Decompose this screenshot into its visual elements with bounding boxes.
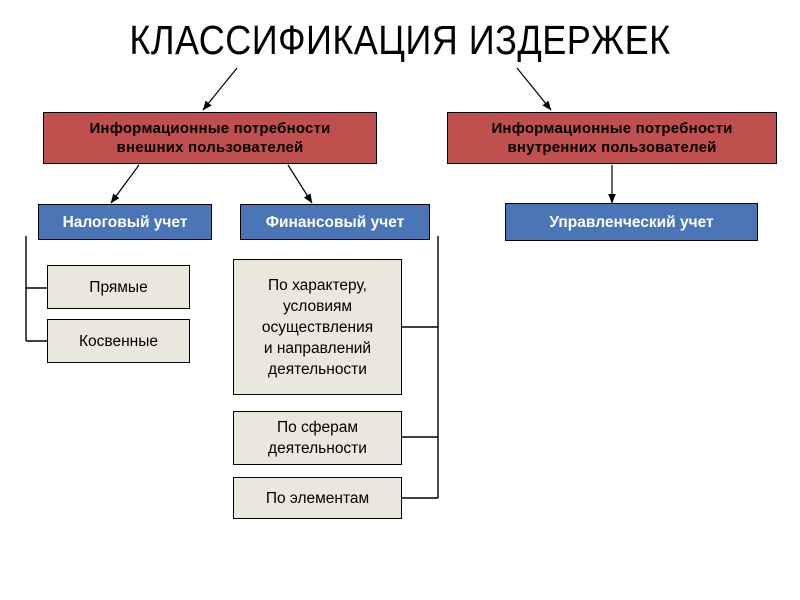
node-by-spheres-line1: По сферам	[277, 419, 358, 436]
arrow-title-to-external	[203, 68, 237, 110]
bracket-tax-children	[26, 236, 47, 341]
node-by-elements[interactable]: По элементам	[233, 477, 402, 519]
node-internal-users-line1: Информационные потребности	[491, 120, 732, 137]
node-indirect-costs-label: Косвенные	[48, 331, 189, 352]
node-direct-costs[interactable]: Прямые	[47, 265, 190, 309]
node-external-users-line2: внешних пользователей	[117, 139, 304, 156]
node-tax-accounting-label: Налоговый учет	[39, 213, 211, 232]
diagram-canvas: КЛАССИФИКАЦИЯ ИЗДЕРЖЕК Информационные по…	[0, 0, 800, 600]
node-internal-users-line2: внутренних пользователей	[507, 139, 716, 156]
node-internal-users[interactable]: Информационные потребности внутренних по…	[447, 112, 777, 164]
node-by-character-line3: осуществления	[262, 319, 373, 336]
node-external-users[interactable]: Информационные потребности внешних польз…	[43, 112, 377, 164]
node-external-users-line1: Информационные потребности	[89, 120, 330, 137]
node-tax-accounting[interactable]: Налоговый учет	[38, 204, 212, 240]
arrow-title-to-internal	[517, 68, 551, 110]
node-indirect-costs[interactable]: Косвенные	[47, 319, 190, 363]
node-direct-costs-label: Прямые	[48, 277, 189, 298]
node-by-elements-label: По элементам	[234, 488, 401, 509]
node-financial-accounting-label: Финансовый учет	[241, 213, 429, 232]
bracket-financial-children	[402, 236, 438, 498]
arrow-external-to-tax	[111, 165, 139, 203]
node-management-accounting[interactable]: Управленческий учет	[505, 203, 758, 241]
node-by-character-line2: условиям	[283, 298, 352, 315]
node-management-accounting-label: Управленческий учет	[506, 213, 757, 232]
node-by-character-line5: деятельности	[268, 361, 367, 378]
node-by-character-line1: По характеру,	[268, 277, 367, 294]
page-title: КЛАССИФИКАЦИЯ ИЗДЕРЖЕК	[48, 16, 752, 64]
node-financial-accounting[interactable]: Финансовый учет	[240, 204, 430, 240]
node-by-character[interactable]: По характеру, условиям осуществления и н…	[233, 259, 402, 395]
node-by-character-line4: и направлений	[264, 340, 371, 357]
node-by-spheres-line2: деятельности	[268, 440, 367, 457]
node-by-spheres[interactable]: По сферам деятельности	[233, 411, 402, 465]
arrow-external-to-financial	[288, 165, 312, 203]
